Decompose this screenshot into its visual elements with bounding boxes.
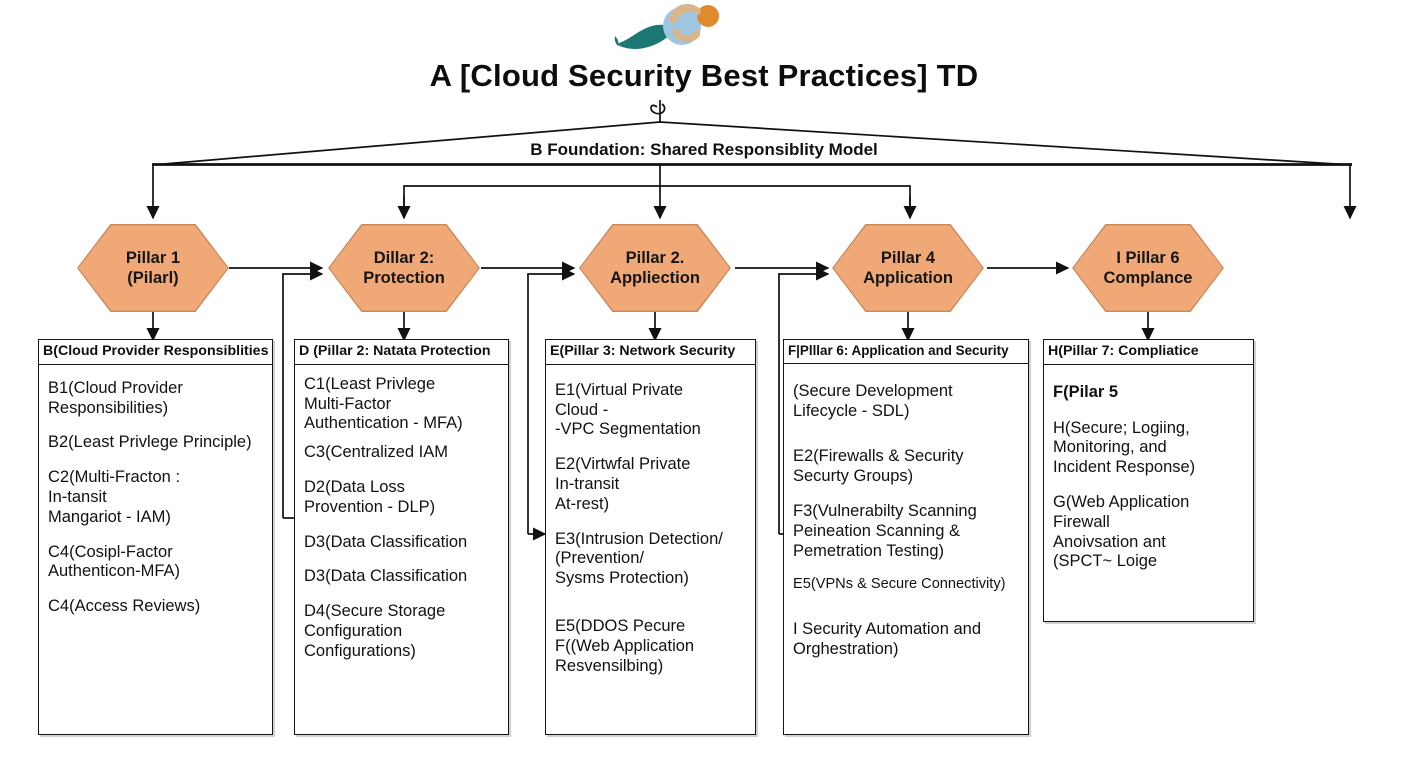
- panel-compliance[interactable]: H(Pillar 7: Compliatice F(Pilar 5 H(Secu…: [1043, 339, 1254, 622]
- list-item: C1(Least Privlege Multi-Factor Authentic…: [304, 375, 501, 434]
- pillar-5-line2: Complance: [1104, 269, 1193, 287]
- wire-bus-middle: [404, 186, 910, 218]
- list-item: E5(VPNs & Secure Connectivity): [793, 576, 1021, 594]
- list-item: E2(Virtwfal Private In-transit At-rest): [555, 455, 748, 514]
- list-item: B1(Cloud Provider Responsibilities): [48, 379, 265, 419]
- list-item: F(Pilar 5: [1053, 383, 1246, 403]
- list-item: B2(Least Privlege Principle): [48, 433, 265, 453]
- pillar-4-line1: Pillar 4: [881, 249, 935, 267]
- pillar-2-line1: Dillar 2:: [374, 249, 435, 267]
- panel-1-body: B1(Cloud Provider Responsibilities) B2(L…: [39, 365, 272, 625]
- list-item: E2(Firewalls & Security Securty Groups): [793, 447, 1021, 487]
- pillar-node-4[interactable]: Pillar 4 Application: [832, 224, 984, 312]
- list-item: C4(Cosipl-Factor Authenticon-MFA): [48, 543, 265, 583]
- list-item: D3(Data Classification: [304, 533, 501, 553]
- pillar-3-line2: Appliection: [610, 269, 700, 287]
- panel-application-security[interactable]: F|Plllar 6: Application and Security (Se…: [783, 339, 1029, 735]
- list-item: F3(Vulnerabilty Scanning Peineation Scan…: [793, 502, 1021, 561]
- list-item: I Security Automation and Orghestration): [793, 620, 1021, 660]
- panel-cloud-provider-responsibilities[interactable]: B(Cloud Provider Responsiblities B1(Clou…: [38, 339, 273, 735]
- panel-4-header: F|Plllar 6: Application and Security: [784, 340, 1028, 364]
- panel-5-header: H(Pillar 7: Compliatice: [1044, 340, 1253, 365]
- panel-3-header: E(Pillar 3: Network Security: [546, 340, 755, 365]
- pillar-3-line1: Pillar 2.: [626, 249, 685, 267]
- squiggle-connector: [651, 104, 665, 114]
- panel-2-header: D (Pillar 2: Natata Protection: [295, 340, 508, 365]
- pillar-node-5[interactable]: I Pillar 6 Complance: [1072, 224, 1224, 312]
- pillar-node-3[interactable]: Pillar 2. Appliection: [579, 224, 731, 312]
- list-item: E3(Intrusion Detection/ (Prevention/ Sys…: [555, 530, 748, 589]
- pillar-5-line1: I Pillar 6: [1116, 249, 1179, 267]
- mermaid-logo: [612, 0, 742, 56]
- list-item: (Secure Development Lifecycle - SDL): [793, 382, 1021, 422]
- list-item: D4(Secure Storage Configuration Configur…: [304, 602, 501, 661]
- pillar-1-line2: (Pilarl): [127, 269, 178, 287]
- pillar-node-2[interactable]: Dillar 2: Protection: [328, 224, 480, 312]
- list-item: H(Secure; Logiing, Monitoring, and Incid…: [1053, 419, 1246, 478]
- page-title: A [Cloud Security Best Practices] TD: [0, 58, 1408, 94]
- list-item: D3(Data Classification: [304, 567, 501, 587]
- list-item: C2(Multi-Fracton : In-tansit Mangariot -…: [48, 468, 265, 527]
- diagram-canvas: A [Cloud Security Best Practices] TD: [0, 0, 1408, 768]
- panel-network-security[interactable]: E(Pillar 3: Network Security E1(Virtual …: [545, 339, 756, 735]
- list-item: E1(Virtual Private Cloud - -VPC Segmenta…: [555, 381, 748, 440]
- panel-1-header: B(Cloud Provider Responsiblities: [39, 340, 272, 365]
- pillar-4-line2: Application: [863, 269, 953, 287]
- panel-2-body: C1(Least Privlege Multi-Factor Authentic…: [295, 365, 508, 670]
- panel-5-body: F(Pilar 5 H(Secure; Logiing, Monitoring,…: [1044, 365, 1253, 580]
- list-item: D2(Data Loss Provention - DLP): [304, 478, 501, 518]
- panel-4-body: (Secure Development Lifecycle - SDL) E2(…: [784, 364, 1028, 668]
- foundation-label: B Foundation: Shared Responsiblity Model: [0, 140, 1408, 160]
- pillar-node-1[interactable]: Pillar 1 (Pilarl): [77, 224, 229, 312]
- panel-data-protection[interactable]: D (Pillar 2: Natata Protection C1(Least …: [294, 339, 509, 735]
- pillar-1-line1: Pillar 1: [126, 249, 180, 267]
- logo-head: [697, 5, 719, 27]
- pillar-2-line2: Protection: [363, 269, 445, 287]
- list-item: C4(Access Reviews): [48, 597, 265, 617]
- panel-3-body: E1(Virtual Private Cloud - -VPC Segmenta…: [546, 365, 755, 685]
- list-item: C3(Centralized IAM: [304, 443, 501, 463]
- list-item: G(Web Application Firewall Anoivsation a…: [1053, 493, 1246, 572]
- list-item: E5(DDOS Pecure F((Web Application Resven…: [555, 617, 748, 676]
